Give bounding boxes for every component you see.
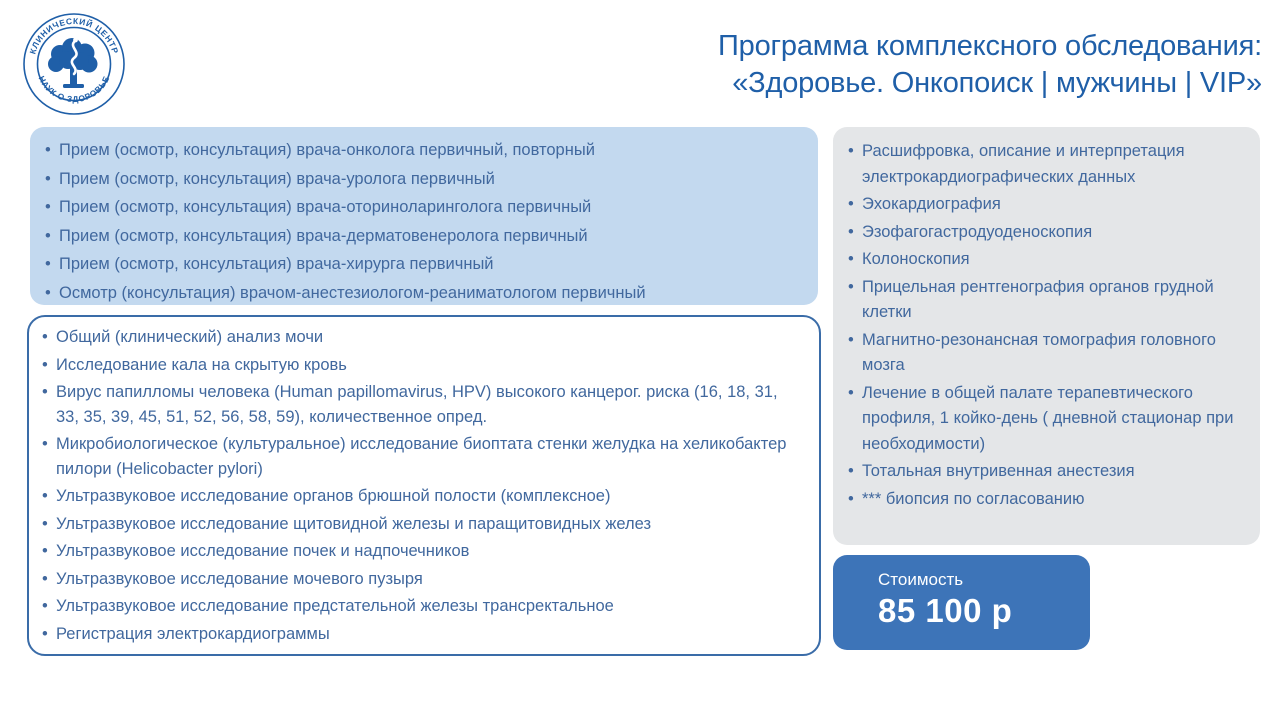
- list-item: Эхокардиография: [847, 192, 1246, 218]
- list-item: Прием (осмотр, консультация) врача-хирур…: [44, 251, 804, 278]
- list-item: Магнитно-резонансная томография головног…: [847, 328, 1246, 379]
- procedures-panel: Расшифровка, описание и интерпретация эл…: [833, 127, 1260, 545]
- list-item: Микробиологическое (культуральное) иссле…: [41, 432, 805, 482]
- page-title-line1: Программа комплексного обследования:: [522, 28, 1262, 65]
- list-item: Исследование кала на скрытую кровь: [41, 353, 805, 379]
- consultations-panel: Прием (осмотр, консультация) врача-онкол…: [30, 127, 818, 305]
- list-item: Регистрация электрокардиограммы: [41, 622, 805, 648]
- page-title-line2: «Здоровье. Онкопоиск | мужчины | VIP»: [522, 65, 1262, 102]
- list-item: Лечение в общей палате терапевтического …: [847, 381, 1246, 458]
- list-item: Прием (осмотр, консультация) врача-дерма…: [44, 223, 804, 250]
- list-item: *** биопсия по согласованию: [847, 487, 1246, 513]
- list-item: Прием (осмотр, консультация) врача-онкол…: [44, 137, 804, 164]
- list-item: Общий (клинический) анализ мочи: [41, 325, 805, 351]
- list-item: Ультразвуковое исследование органов брюш…: [41, 484, 805, 510]
- list-item: Ультразвуковое исследование щитовидной ж…: [41, 512, 805, 538]
- list-item: Колоноскопия: [847, 247, 1246, 273]
- list-item: Эзофагогастродуоденоскопия: [847, 220, 1246, 246]
- list-item: Ультразвуковое исследование почек и надп…: [41, 539, 805, 565]
- price-card: Стоимость 85 100 р: [833, 555, 1090, 650]
- price-label: Стоимость: [878, 569, 1090, 591]
- list-item: Прием (осмотр, консультация) врача-уроло…: [44, 166, 804, 193]
- list-item: Тотальная внутривенная анестезия: [847, 459, 1246, 485]
- page-title: Программа комплексного обследования: «Зд…: [522, 28, 1262, 102]
- list-item: Ультразвуковое исследование предстательн…: [41, 594, 805, 620]
- price-value: 85 100 р: [878, 591, 1090, 631]
- diagnostics-panel: Общий (клинический) анализ мочи Исследов…: [27, 315, 821, 656]
- procedures-list: Расшифровка, описание и интерпретация эл…: [847, 139, 1246, 512]
- diagnostics-list: Общий (клинический) анализ мочи Исследов…: [41, 325, 805, 647]
- list-item: Расшифровка, описание и интерпретация эл…: [847, 139, 1246, 190]
- list-item: Вирус папилломы человека (Human papillom…: [41, 380, 805, 430]
- list-item: Прием (осмотр, консультация) врача-отори…: [44, 194, 804, 221]
- list-item: Прицельная рентгенография органов грудно…: [847, 275, 1246, 326]
- clinic-logo: КЛИНИЧЕСКИЙ ЦЕНТР НАУК О ЗДОРОВЬЕ: [18, 8, 130, 120]
- list-item: Ультразвуковое исследование мочевого пуз…: [41, 567, 805, 593]
- consultations-list: Прием (осмотр, консультация) врача-онкол…: [44, 137, 804, 306]
- list-item: Осмотр (консультация) врачом-анестезиоло…: [44, 280, 804, 307]
